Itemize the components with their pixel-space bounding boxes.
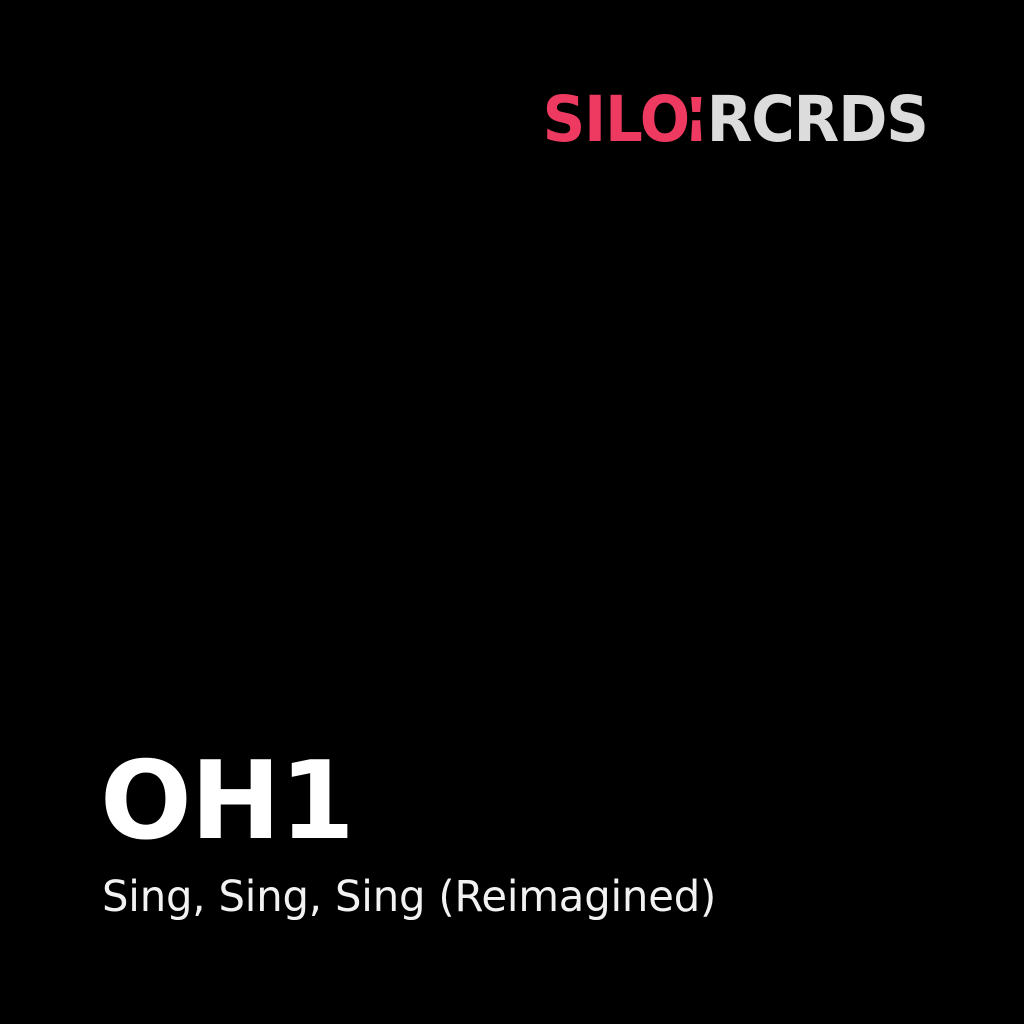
artist-name: OH1 [100,748,353,856]
album-cover-artwork: SILO RCRDS OH1 Sing, Sing, Sing (Reimagi… [0,0,1024,1024]
track-title: Sing, Sing, Sing (Reimagined) [102,872,716,923]
record-label-logo: SILO RCRDS [543,88,928,151]
label-logo-silo-text: SILO [543,88,689,151]
label-logo-rcrds-text: RCRDS [707,88,928,151]
